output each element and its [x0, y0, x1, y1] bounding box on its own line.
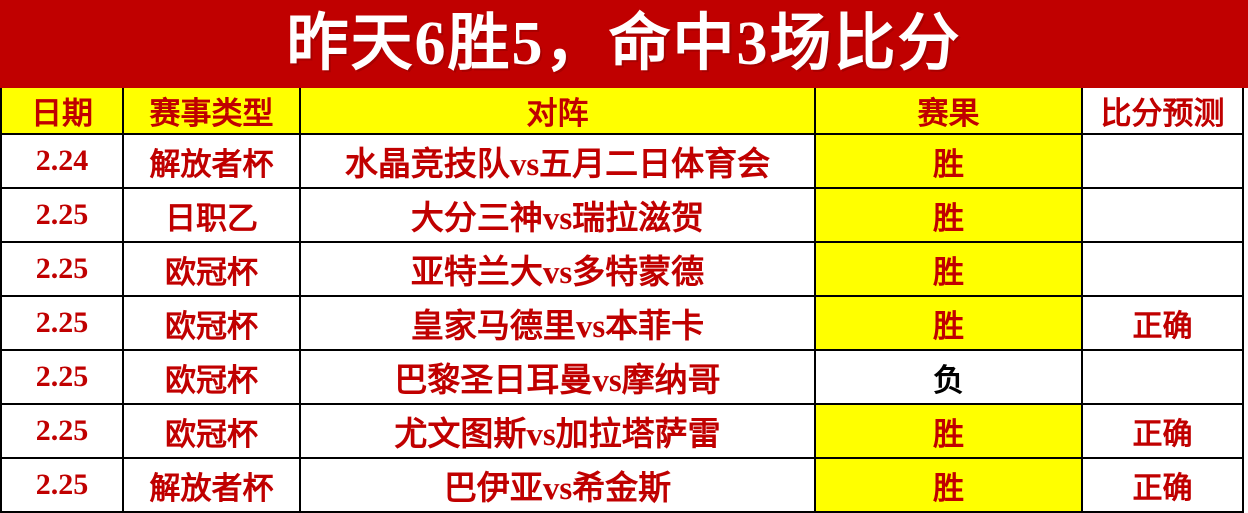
cell-prediction [1082, 242, 1243, 296]
cell-date: 2.24 [1, 134, 123, 188]
page-title: 昨天6胜5，命中3场比分 [286, 13, 961, 75]
column-header-match: 对阵 [300, 88, 815, 134]
cell-match: 巴黎圣日耳曼vs摩纳哥 [300, 350, 815, 404]
cell-league: 日职乙 [123, 188, 300, 242]
table-body: 2.24解放者杯水晶竞技队vs五月二日体育会胜2.25日职乙大分三神vs瑞拉滋贺… [1, 134, 1243, 512]
cell-match: 巴伊亚vs希金斯 [300, 458, 815, 512]
cell-date: 2.25 [1, 242, 123, 296]
column-header-league: 赛事类型 [123, 88, 300, 134]
match-prediction-table: 日期 赛事类型 对阵 赛果 比分预测 2.24解放者杯水晶竞技队vs五月二日体育… [0, 88, 1244, 513]
cell-league: 欧冠杯 [123, 404, 300, 458]
cell-prediction [1082, 350, 1243, 404]
table-header-row: 日期 赛事类型 对阵 赛果 比分预测 [1, 88, 1243, 134]
cell-result: 负 [815, 350, 1082, 404]
table-row: 2.25欧冠杯巴黎圣日耳曼vs摩纳哥负 [1, 350, 1243, 404]
cell-league: 欧冠杯 [123, 296, 300, 350]
cell-prediction: 正确 [1082, 404, 1243, 458]
table-row: 2.24解放者杯水晶竞技队vs五月二日体育会胜 [1, 134, 1243, 188]
table-row: 2.25欧冠杯亚特兰大vs多特蒙德胜 [1, 242, 1243, 296]
table-row: 2.25日职乙大分三神vs瑞拉滋贺胜 [1, 188, 1243, 242]
cell-date: 2.25 [1, 350, 123, 404]
cell-date: 2.25 [1, 188, 123, 242]
cell-result: 胜 [815, 296, 1082, 350]
cell-prediction [1082, 134, 1243, 188]
cell-match: 皇家马德里vs本菲卡 [300, 296, 815, 350]
cell-league: 欧冠杯 [123, 350, 300, 404]
table-row: 2.25欧冠杯皇家马德里vs本菲卡胜正确 [1, 296, 1243, 350]
prediction-page: 昨天6胜5，命中3场比分 日期 赛事类型 对阵 赛果 比分预测 2.24解放者杯… [0, 0, 1248, 506]
cell-date: 2.25 [1, 404, 123, 458]
cell-match: 大分三神vs瑞拉滋贺 [300, 188, 815, 242]
cell-match: 水晶竞技队vs五月二日体育会 [300, 134, 815, 188]
cell-league: 欧冠杯 [123, 242, 300, 296]
cell-prediction [1082, 188, 1243, 242]
cell-date: 2.25 [1, 296, 123, 350]
table-row: 2.25欧冠杯尤文图斯vs加拉塔萨雷胜正确 [1, 404, 1243, 458]
cell-league: 解放者杯 [123, 458, 300, 512]
cell-result: 胜 [815, 458, 1082, 512]
column-header-date: 日期 [1, 88, 123, 134]
column-header-prediction: 比分预测 [1082, 88, 1243, 134]
cell-prediction: 正确 [1082, 296, 1243, 350]
cell-result: 胜 [815, 134, 1082, 188]
title-banner: 昨天6胜5，命中3场比分 [0, 0, 1248, 88]
cell-league: 解放者杯 [123, 134, 300, 188]
table-row: 2.25解放者杯巴伊亚vs希金斯胜正确 [1, 458, 1243, 512]
cell-match: 尤文图斯vs加拉塔萨雷 [300, 404, 815, 458]
cell-result: 胜 [815, 188, 1082, 242]
cell-result: 胜 [815, 404, 1082, 458]
cell-result: 胜 [815, 242, 1082, 296]
column-header-result: 赛果 [815, 88, 1082, 134]
cell-match: 亚特兰大vs多特蒙德 [300, 242, 815, 296]
cell-date: 2.25 [1, 458, 123, 512]
cell-prediction: 正确 [1082, 458, 1243, 512]
